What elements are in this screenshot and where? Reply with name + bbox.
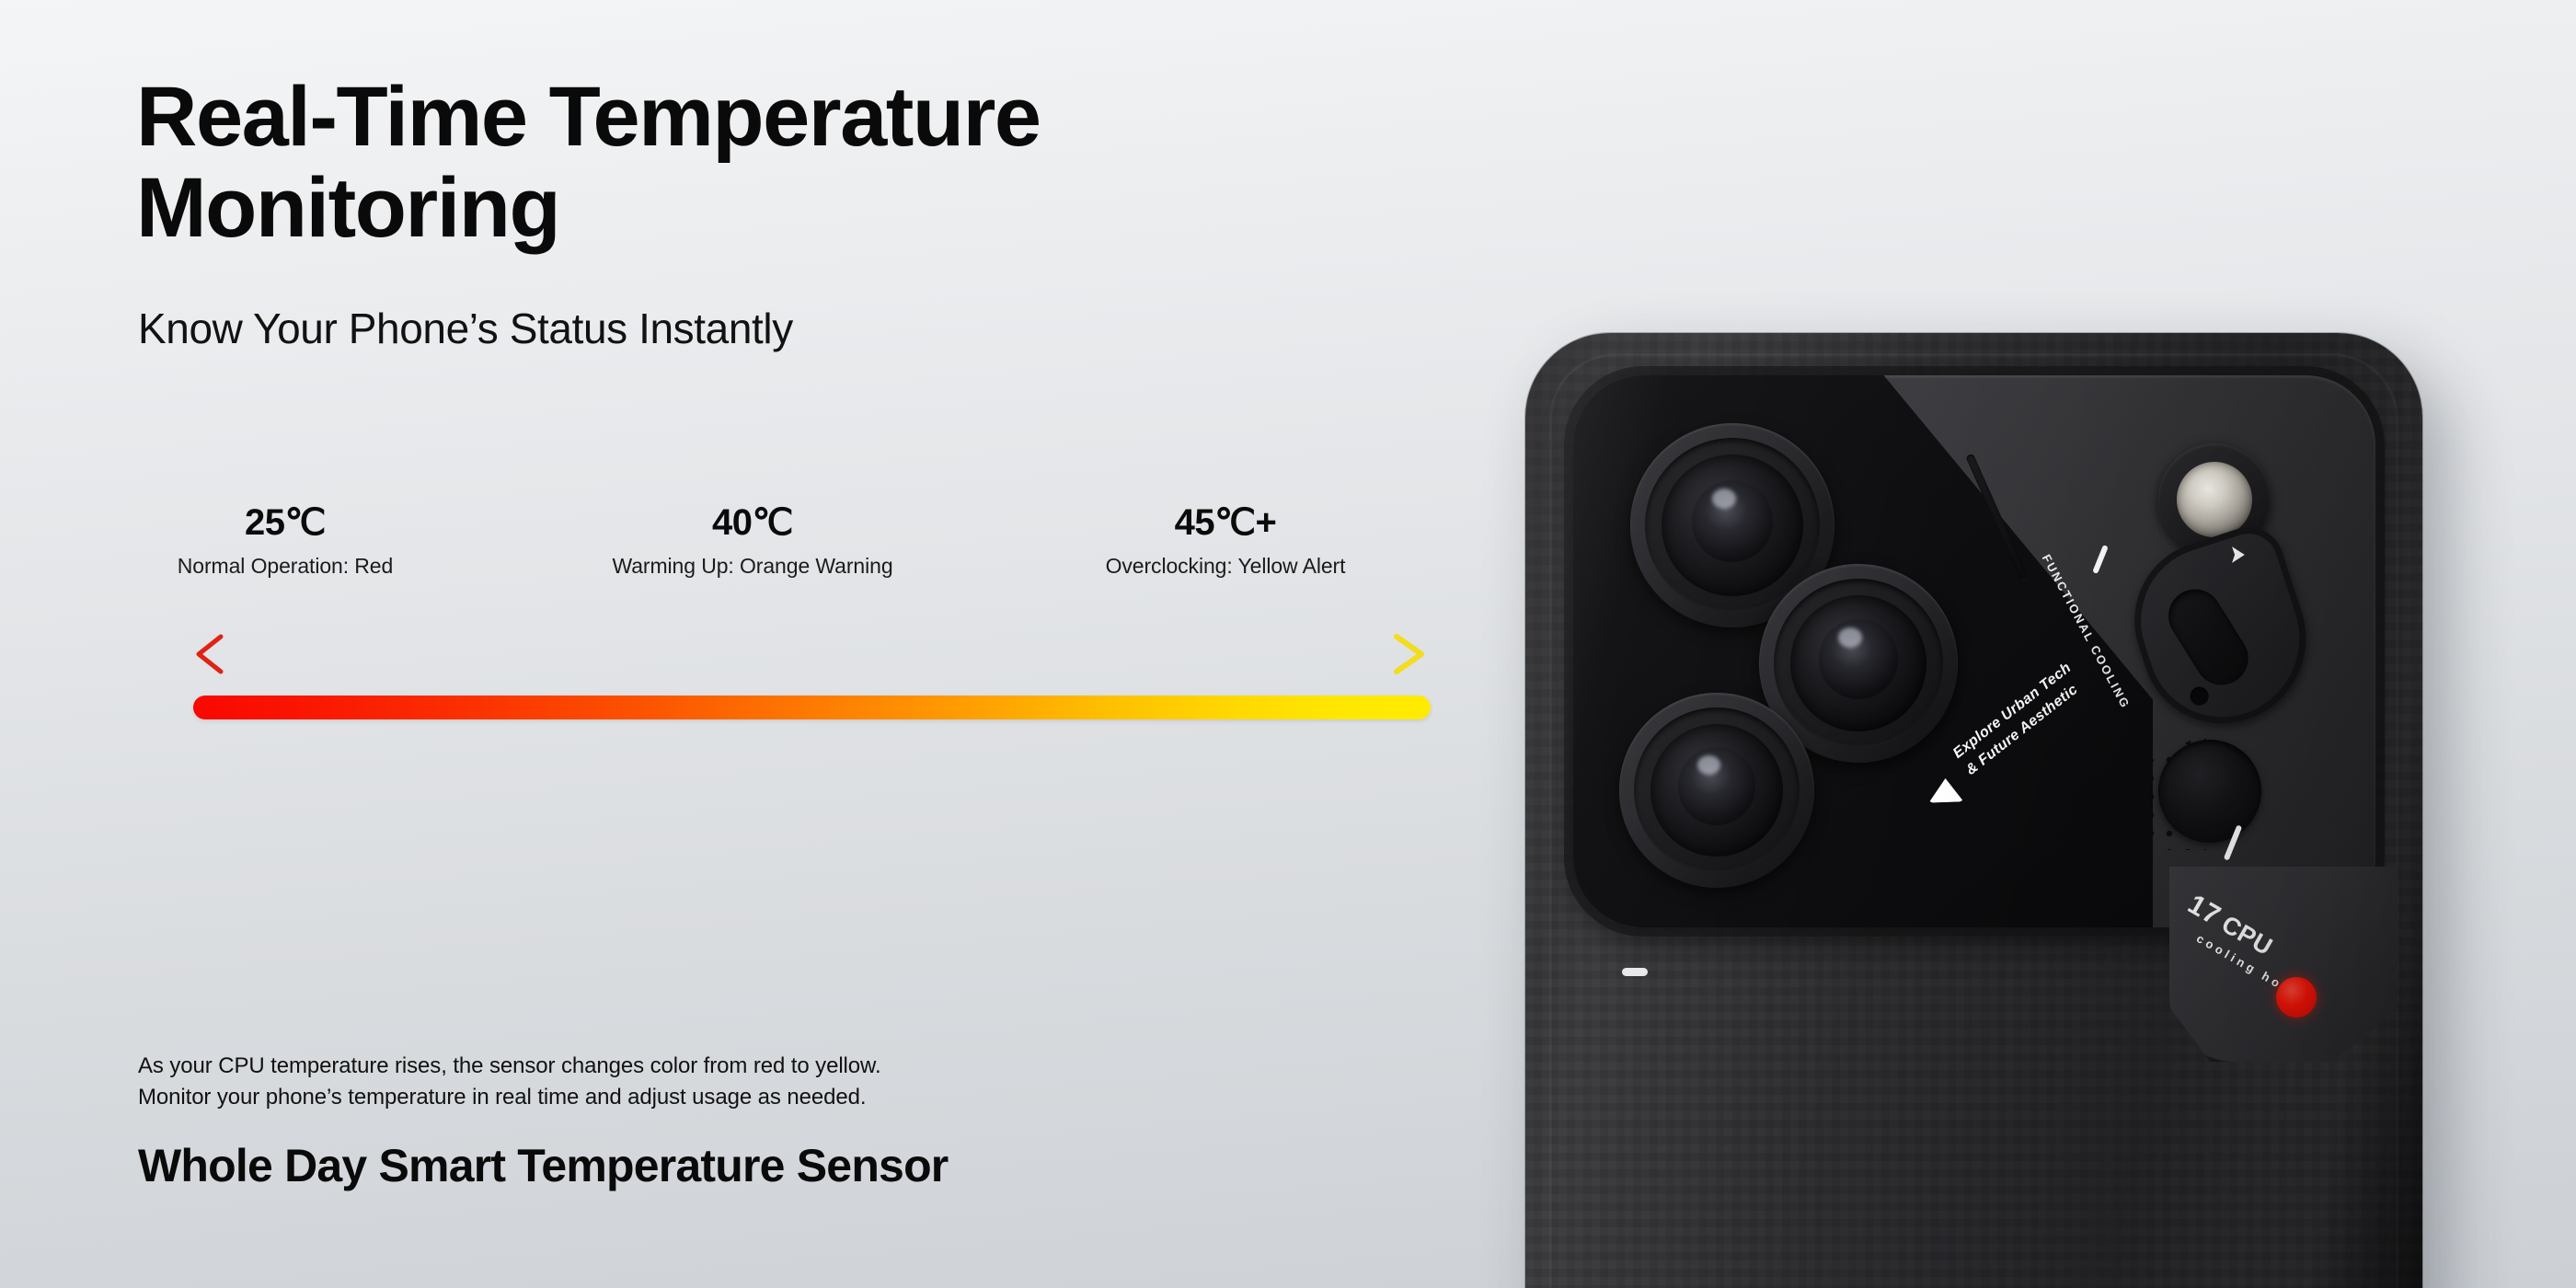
- legend-temp-desc: Normal Operation: Red: [92, 554, 478, 579]
- legend-temp-value: 25℃: [92, 504, 478, 541]
- body-copy-line-1: As your CPU temperature rises, the senso…: [138, 1051, 881, 1082]
- phone-case: FUNCTIONAL COOLING Explore Urban Tech & …: [1525, 333, 2422, 1288]
- temperature-range-arrow: [182, 633, 1438, 675]
- legend-temp-desc: Overclocking: Yellow Alert: [1032, 554, 1419, 579]
- legend-temp-desc: Warming Up: Orange Warning: [559, 554, 946, 579]
- legend-item-normal: 25℃ Normal Operation: Red: [92, 504, 478, 579]
- phone-sheen-overlay: [1525, 333, 2422, 1288]
- left-content-pane: Real-Time Temperature Monitoring Know Yo…: [0, 0, 1527, 1288]
- footer-headline: Whole Day Smart Temperature Sensor: [138, 1139, 948, 1192]
- body-copy-line-2: Monitor your phone’s temperature in real…: [138, 1082, 881, 1113]
- page-title: Real-Time Temperature Monitoring: [136, 72, 1470, 255]
- phone-product-image: FUNCTIONAL COOLING Explore Urban Tech & …: [1472, 0, 2576, 1288]
- temperature-scale: 25℃ Normal Operation: Red 40℃ Warming Up…: [193, 504, 1435, 734]
- dashed-arrow-icon: [182, 633, 1438, 675]
- legend-item-overclocking: 45℃+ Overclocking: Yellow Alert: [1032, 504, 1419, 579]
- temperature-gradient-bar: [193, 696, 1431, 719]
- legend-item-warming: 40℃ Warming Up: Orange Warning: [559, 504, 946, 579]
- legend-temp-value: 40℃: [559, 504, 946, 541]
- temperature-legend: 25℃ Normal Operation: Red 40℃ Warming Up…: [193, 504, 1435, 589]
- body-copy: As your CPU temperature rises, the senso…: [138, 1051, 881, 1113]
- legend-temp-value: 45℃+: [1032, 504, 1419, 541]
- page-subtitle: Know Your Phone’s Status Instantly: [138, 304, 793, 353]
